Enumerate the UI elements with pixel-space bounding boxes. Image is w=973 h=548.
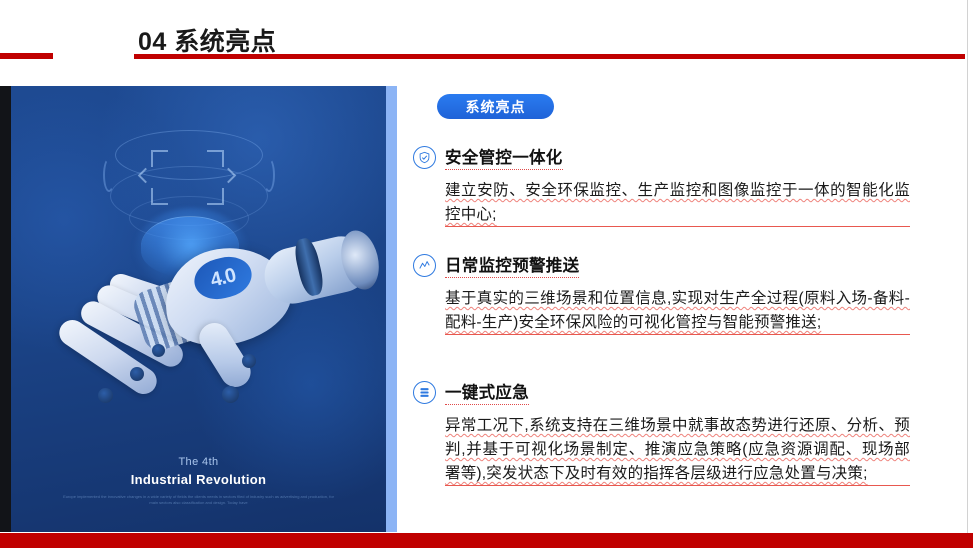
highlight-3-title: 一键式应急 [445,379,529,405]
highlight-1-header: 安全管控一体化 [413,144,923,170]
highlight-2-header: 日常监控预警推送 [413,252,923,278]
visual-accent-strip [386,86,397,532]
slide-canvas: 04 系统亮点 [0,0,973,548]
visual-left-edge [0,86,11,532]
page-right-border [967,0,968,548]
robot-hand-icon: 4.0 [46,236,376,466]
highlight-3-body: 异常工况下,系统支持在三维场景中就事故态势进行还原、分析、预判,并基于可视化场景… [445,414,910,486]
status-badge: 系统亮点 [437,94,554,119]
highlight-1-body: 建立安防、安全环保监控、生产监控和图像监控于一体的智能化监控中心; [445,179,910,227]
line-chart-icon [413,254,436,277]
stacked-layers-icon [413,381,436,404]
hero-image: 4.0 The 4th Industrial Revolution Europe… [11,86,386,532]
hero-caption-small: The 4th [11,456,386,468]
highlight-block-3: 一键式应急 异常工况下,系统支持在三维场景中就事故态势进行还原、分析、预判,并基… [413,379,923,486]
page-title: 04 系统亮点 [138,22,276,58]
highlight-3-header: 一键式应急 [413,379,923,405]
highlight-2-title: 日常监控预警推送 [445,252,579,278]
highlight-2-body: 基于真实的三维场景和位置信息,实现对生产全过程(原料入场-备料-配料-生产)安全… [445,287,910,335]
header-rule-left [0,53,53,59]
highlight-1-title: 安全管控一体化 [445,144,563,170]
hero-caption: The 4th Industrial Revolution Europe imp… [11,456,386,506]
highlight-block-1: 安全管控一体化 建立安防、安全环保监控、生产监控和图像监控于一体的智能化监控中心… [413,144,923,227]
footer-bar [0,533,973,548]
hero-caption-fine: Europe implemented the innovative change… [11,494,386,506]
highlight-block-2: 日常监控预警推送 基于真实的三维场景和位置信息,实现对生产全过程(原料入场-备料… [413,252,923,335]
shield-check-icon [413,146,436,169]
hero-caption-large: Industrial Revolution [11,472,386,487]
